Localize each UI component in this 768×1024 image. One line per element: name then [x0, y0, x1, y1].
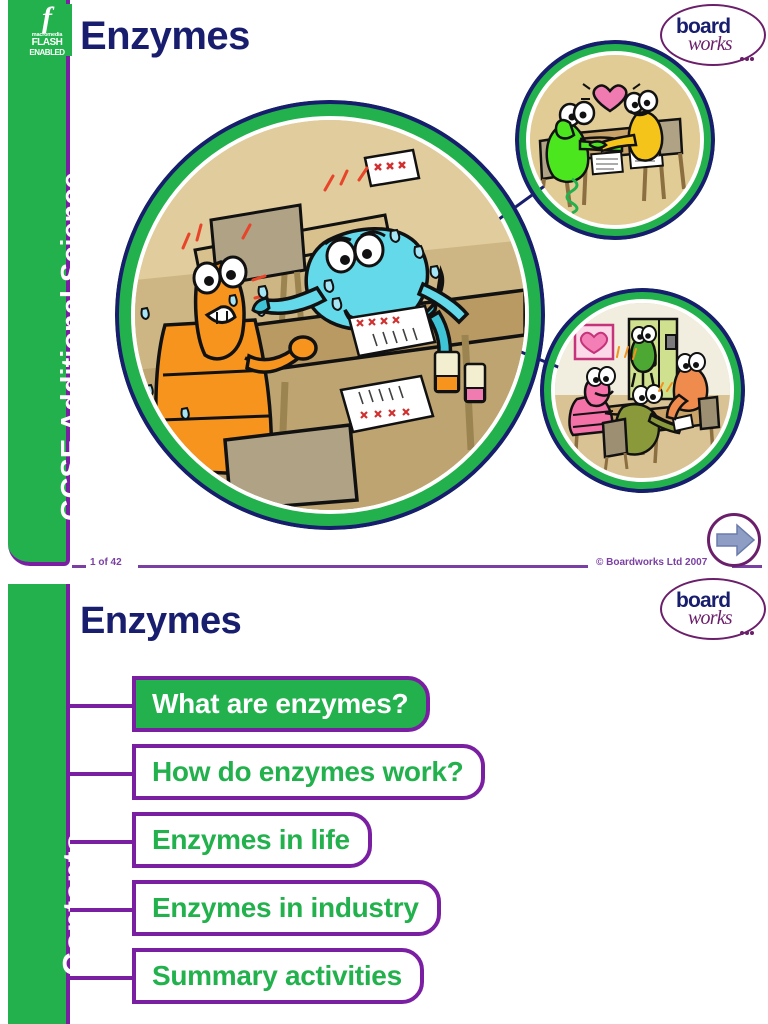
- sidebar-course-rail: f macromedia FLASH ENABLED GCSE Addition…: [8, 0, 70, 566]
- contents-connector-line: [70, 772, 134, 776]
- contents-connector-line: [70, 908, 134, 912]
- slide-contents-page: Contents Enzymes board works What are en…: [0, 572, 768, 1024]
- contents-connector-line: [70, 840, 134, 844]
- logo-dots-icon: [740, 622, 755, 640]
- logo-word-works: works: [688, 33, 732, 56]
- boardworks-logo: board works: [660, 4, 766, 66]
- logo-word-works: works: [688, 607, 732, 630]
- contents-connector-line: [70, 976, 134, 980]
- contents-item-5[interactable]: Summary activities: [132, 948, 424, 1004]
- contents-row: Enzymes in life: [70, 808, 670, 876]
- footer-rule-middle: [138, 565, 588, 568]
- detail-illustration-bubble-handshake: [515, 40, 715, 240]
- detail-illustration-bubble-classroom: [540, 288, 745, 493]
- flash-enabled-badge: f macromedia FLASH ENABLED: [22, 4, 72, 56]
- contents-item-4[interactable]: Enzymes in industry: [132, 880, 441, 936]
- page-title: Enzymes: [80, 14, 250, 59]
- right-arrow-icon: [707, 513, 761, 567]
- footer-rule-left: [72, 565, 86, 568]
- contents-connector-line: [70, 704, 134, 708]
- contents-item-1[interactable]: What are enzymes?: [132, 676, 430, 732]
- contents-row: Summary activities: [70, 944, 670, 1012]
- logo-dots-icon: [740, 48, 755, 66]
- main-illustration-bubble: [115, 100, 545, 530]
- flash-badge-line2: FLASH: [22, 38, 72, 48]
- contents-item-2[interactable]: How do enzymes work?: [132, 744, 485, 800]
- page-number: 1 of 42: [90, 557, 122, 568]
- footer: 1 of 42 © Boardworks Ltd 2007: [72, 558, 762, 572]
- next-slide-button[interactable]: [707, 513, 761, 567]
- contents-row: Enzymes in industry: [70, 876, 670, 944]
- sidebar-course-label: GCSE Additional Science: [56, 172, 89, 521]
- contents-list: What are enzymes?How do enzymes work?Enz…: [70, 672, 670, 1012]
- flash-badge-line3: ENABLED: [22, 48, 72, 56]
- contents-item-label: Summary activities: [152, 960, 402, 992]
- contents-item-label: Enzymes in industry: [152, 892, 419, 924]
- copyright-text: © Boardworks Ltd 2007: [596, 557, 707, 568]
- contents-row: What are enzymes?: [70, 672, 670, 740]
- flash-logo-icon: f: [22, 4, 72, 32]
- contents-item-3[interactable]: Enzymes in life: [132, 812, 372, 868]
- contents-item-label: Enzymes in life: [152, 824, 350, 856]
- contents-row: How do enzymes work?: [70, 740, 670, 808]
- contents-item-label: How do enzymes work?: [152, 756, 463, 788]
- title-illustration: [75, 30, 765, 560]
- contents-item-label: What are enzymes?: [152, 688, 408, 720]
- boardworks-logo-contents: board works: [660, 578, 766, 640]
- slide-title-page: f macromedia FLASH ENABLED GCSE Addition…: [0, 0, 768, 572]
- contents-page-title: Enzymes: [80, 600, 241, 643]
- sidebar-contents-rail: Contents: [8, 584, 70, 1024]
